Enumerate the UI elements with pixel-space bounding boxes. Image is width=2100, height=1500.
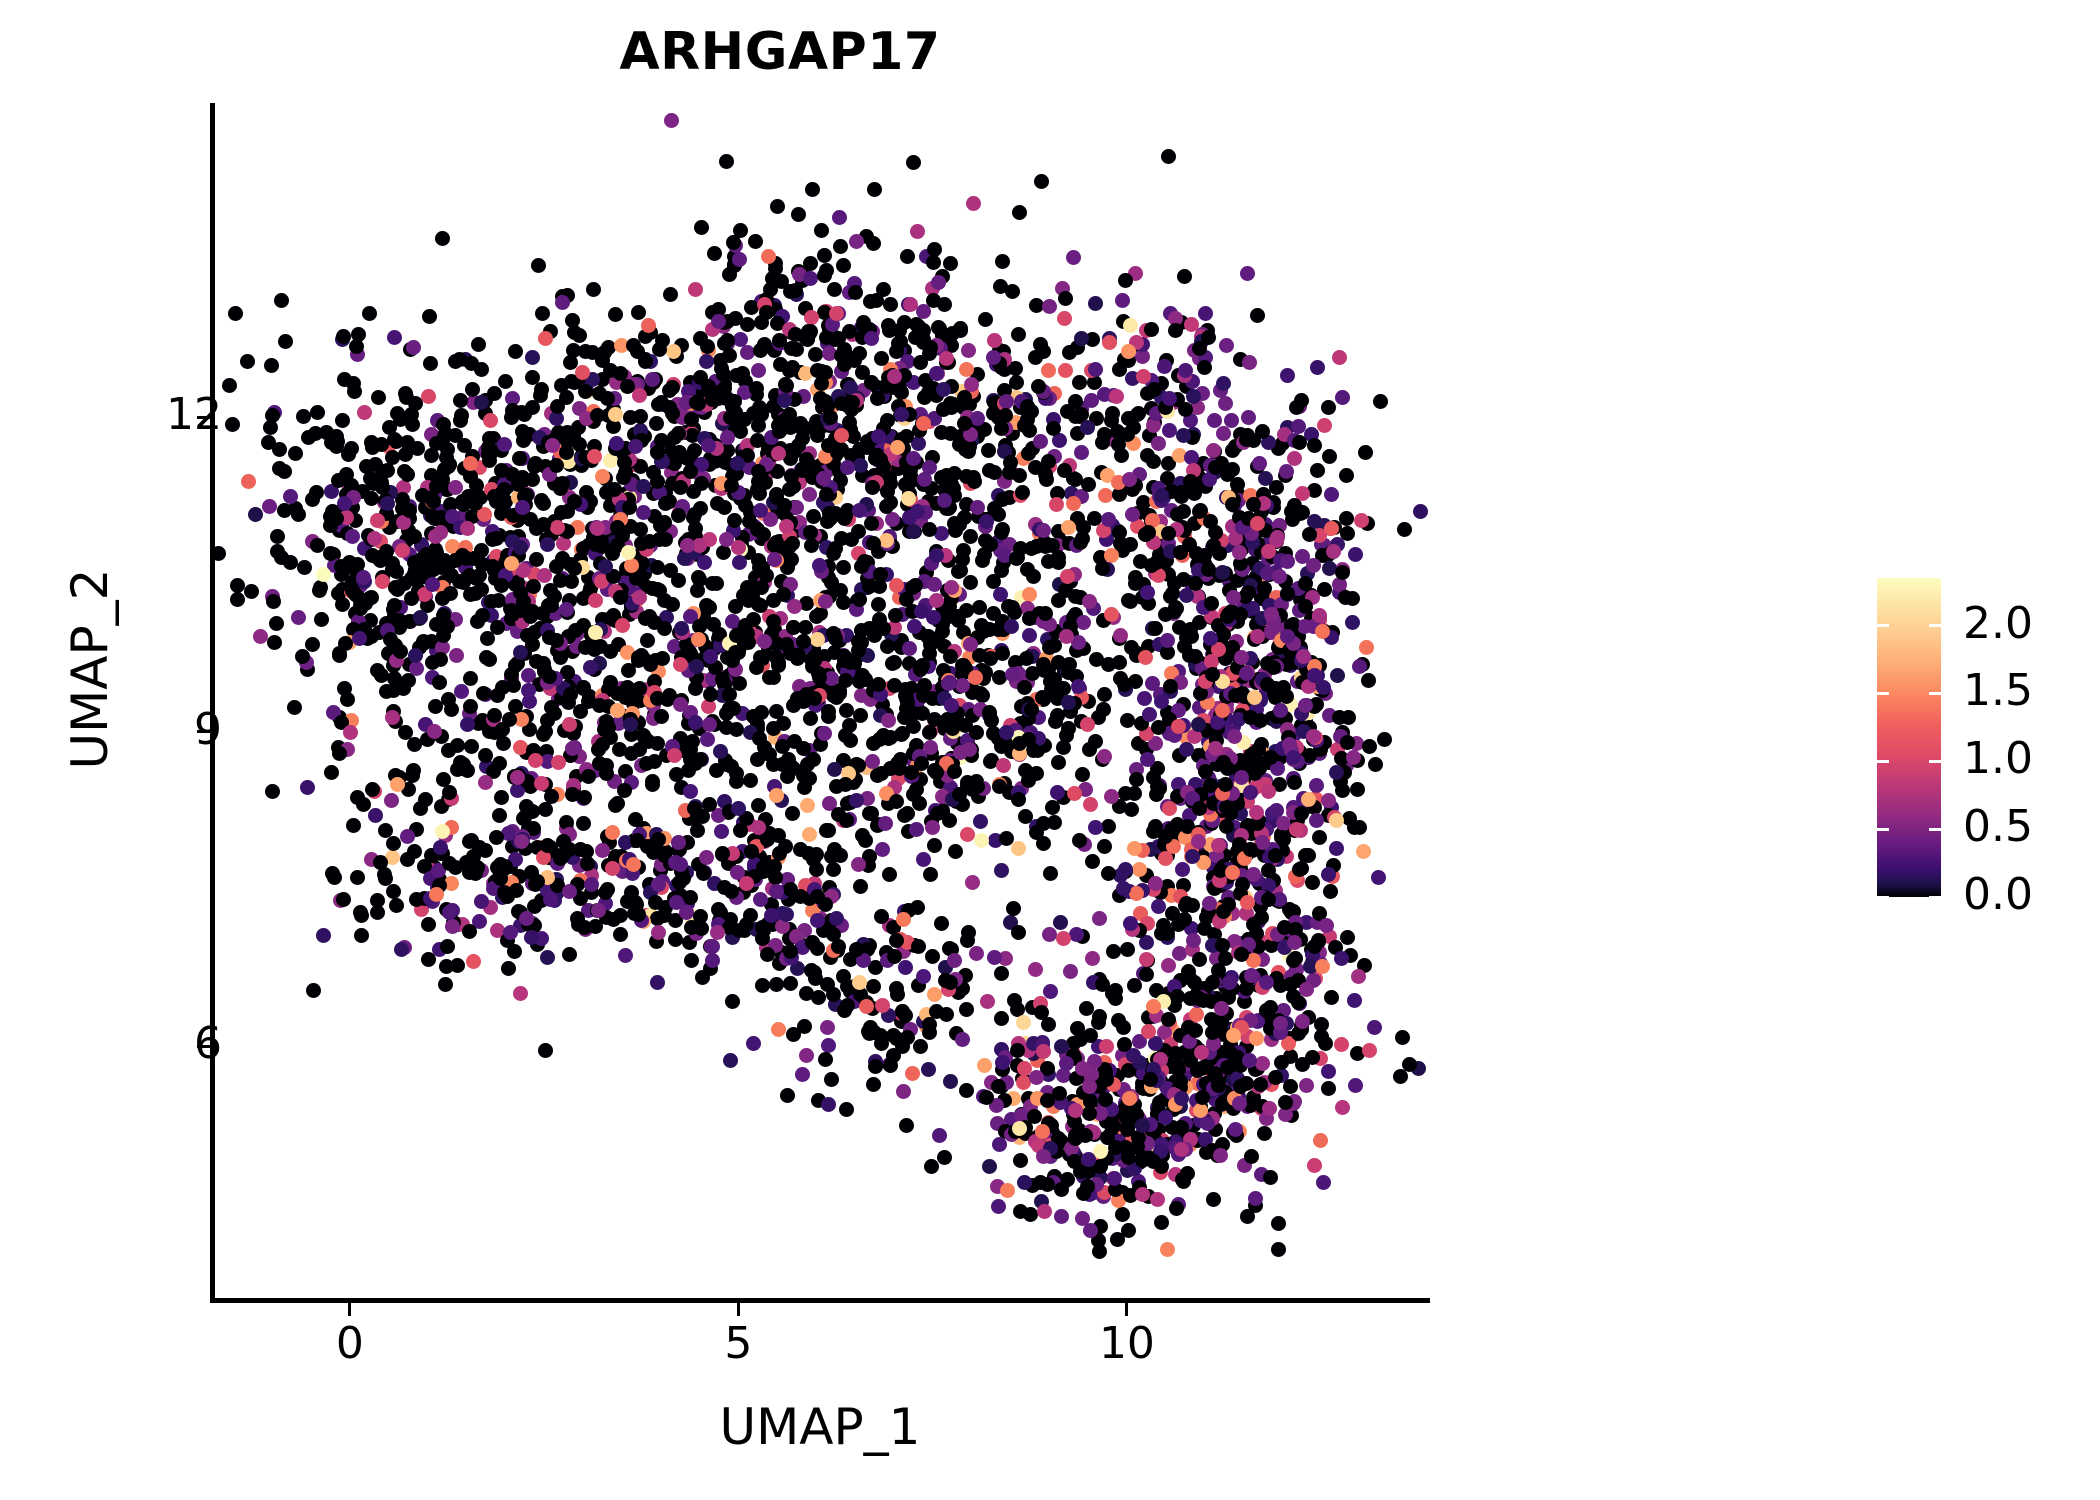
scatter-point — [1255, 756, 1270, 771]
scatter-point — [301, 430, 316, 445]
scatter-point — [1264, 607, 1279, 622]
scatter-point — [1253, 713, 1268, 728]
scatter-point — [645, 774, 660, 789]
scatter-point — [1036, 1044, 1051, 1059]
scatter-point — [826, 862, 841, 877]
scatter-point — [581, 769, 596, 784]
scatter-point — [1140, 752, 1155, 767]
scatter-point — [953, 323, 968, 338]
scatter-point — [305, 637, 320, 652]
scatter-point — [1294, 806, 1309, 821]
scatter-point — [963, 529, 978, 544]
scatter-point — [1085, 854, 1100, 869]
scatter-point — [658, 532, 673, 547]
scatter-point — [780, 1088, 795, 1103]
scatter-point — [784, 552, 799, 567]
scatter-point — [951, 613, 966, 628]
scatter-point — [767, 538, 782, 553]
scatter-point — [1033, 434, 1048, 449]
scatter-point — [492, 863, 507, 878]
scatter-point — [849, 793, 864, 808]
scatter-point — [1105, 406, 1120, 421]
scatter-point — [797, 780, 812, 795]
scatter-point — [809, 609, 824, 624]
scatter-point — [895, 1004, 910, 1019]
scatter-point — [922, 522, 937, 537]
scatter-point — [1299, 1078, 1314, 1093]
scatter-point — [1335, 1100, 1350, 1115]
scatter-point — [1075, 767, 1090, 782]
scatter-point — [1170, 507, 1185, 522]
scatter-point — [364, 491, 379, 506]
scatter-point — [547, 706, 562, 721]
scatter-point — [896, 912, 911, 927]
scatter-point — [838, 728, 853, 743]
scatter-point — [729, 722, 744, 737]
scatter-point — [1046, 421, 1061, 436]
scatter-point — [540, 950, 555, 965]
scatter-point — [1043, 984, 1058, 999]
scatter-point — [1054, 1039, 1069, 1054]
scatter-point — [787, 444, 802, 459]
scatter-point — [1097, 687, 1112, 702]
scatter-point — [876, 621, 891, 636]
scatter-point — [350, 870, 365, 885]
scatter-point — [406, 340, 421, 355]
scatter-point — [647, 754, 662, 769]
scatter-point — [957, 416, 972, 431]
scatter-point — [483, 413, 498, 428]
scatter-point — [1101, 819, 1116, 834]
scatter-point — [671, 835, 686, 850]
scatter-point — [836, 560, 851, 575]
scatter-point — [400, 829, 415, 844]
scatter-point — [435, 231, 450, 246]
scatter-point — [922, 725, 937, 740]
scatter-point — [439, 450, 454, 465]
scatter-point — [544, 598, 559, 613]
scatter-point — [607, 482, 622, 497]
scatter-point — [927, 577, 942, 592]
scatter-point — [1314, 1029, 1329, 1044]
scatter-point — [769, 977, 784, 992]
scatter-point — [1219, 800, 1234, 815]
scatter-point — [455, 548, 470, 563]
scatter-point — [839, 703, 854, 718]
scatter-point — [591, 742, 606, 757]
scatter-point — [1102, 335, 1117, 350]
scatter-point — [1249, 1031, 1264, 1046]
scatter-point — [421, 917, 436, 932]
scatter-point — [555, 295, 570, 310]
scatter-point — [1074, 331, 1089, 346]
scatter-point — [244, 584, 259, 599]
scatter-point — [429, 436, 444, 451]
scatter-point — [605, 825, 620, 840]
scatter-point — [900, 806, 915, 821]
scatter-point — [586, 282, 601, 297]
scatter-point — [751, 798, 766, 813]
scatter-point — [1243, 842, 1258, 857]
scatter-point — [335, 597, 350, 612]
scatter-point — [288, 446, 303, 461]
scatter-point — [559, 602, 574, 617]
scatter-point — [799, 1048, 814, 1063]
scatter-point — [386, 836, 401, 851]
scatter-point — [873, 567, 888, 582]
scatter-point — [824, 1072, 839, 1087]
scatter-point — [1115, 1207, 1130, 1222]
scatter-point — [1232, 1096, 1247, 1111]
scatter-point — [840, 460, 855, 475]
scatter-point — [1373, 394, 1388, 409]
scatter-point — [862, 579, 877, 594]
scatter-point — [265, 784, 280, 799]
scatter-point — [1161, 1012, 1176, 1027]
scatter-point — [474, 362, 489, 377]
scatter-point — [1332, 350, 1347, 365]
scatter-point — [567, 561, 582, 576]
scatter-point — [1154, 694, 1169, 709]
scatter-point — [1160, 1242, 1175, 1257]
scatter-point — [476, 686, 491, 701]
scatter-point — [1312, 830, 1327, 845]
scatter-point — [1393, 1069, 1408, 1084]
scatter-point — [535, 306, 550, 321]
scatter-point — [782, 363, 797, 378]
scatter-point — [1395, 1030, 1410, 1045]
scatter-point — [474, 894, 489, 909]
scatter-point — [991, 1079, 1006, 1094]
scatter-point — [864, 806, 879, 821]
scatter-point — [866, 536, 881, 551]
scatter-point — [1225, 865, 1240, 880]
scatter-point — [576, 816, 591, 831]
scatter-point — [462, 568, 477, 583]
scatter-point — [484, 594, 499, 609]
scatter-point — [886, 1048, 901, 1063]
scatter-point — [283, 489, 298, 504]
scatter-point — [475, 608, 490, 623]
scatter-point — [1125, 507, 1140, 522]
scatter-point — [1035, 690, 1050, 705]
scatter-point — [987, 465, 1002, 480]
scatter-point — [1082, 594, 1097, 609]
scatter-point — [967, 474, 982, 489]
scatter-point — [982, 1159, 997, 1174]
scatter-point — [1239, 981, 1254, 996]
scatter-point — [512, 451, 527, 466]
scatter-point — [543, 583, 558, 598]
scatter-point — [716, 545, 731, 560]
scatter-point — [1116, 1020, 1131, 1035]
scatter-point — [719, 391, 734, 406]
scatter-point — [1273, 1016, 1288, 1031]
scatter-point — [905, 1066, 920, 1081]
scatter-point — [618, 948, 633, 963]
scatter-point — [544, 789, 559, 804]
scatter-point — [475, 557, 490, 572]
scatter-point — [770, 199, 785, 214]
scatter-point — [241, 474, 256, 489]
scatter-point — [341, 447, 356, 462]
scatter-point — [1270, 530, 1285, 545]
scatter-point — [913, 1039, 928, 1054]
scatter-point — [683, 784, 698, 799]
scatter-point — [1262, 1101, 1277, 1116]
scatter-point — [1071, 679, 1086, 694]
scatter-point — [903, 297, 918, 312]
scatter-point — [795, 1067, 810, 1082]
scatter-point — [1307, 1158, 1322, 1173]
scatter-point — [1121, 411, 1136, 426]
scatter-point — [648, 895, 663, 910]
scatter-point — [1088, 362, 1103, 377]
scatter-point — [599, 758, 614, 773]
scatter-point — [663, 287, 678, 302]
scatter-point — [1280, 586, 1295, 601]
scatter-point — [570, 911, 585, 926]
scatter-point — [1329, 841, 1344, 856]
scatter-point — [1083, 1223, 1098, 1238]
scatter-point — [1251, 742, 1266, 757]
scatter-point — [1157, 359, 1172, 374]
scatter-point — [702, 717, 717, 732]
scatter-point — [914, 604, 929, 619]
scatter-point — [1095, 561, 1110, 576]
scatter-point — [889, 933, 904, 948]
scatter-point — [875, 842, 890, 857]
scatter-point — [1175, 1172, 1190, 1187]
scatter-point — [1144, 322, 1159, 337]
scatter-point — [946, 481, 961, 496]
scatter-point — [1070, 1021, 1085, 1036]
scatter-point — [402, 503, 417, 518]
scatter-point — [961, 444, 976, 459]
scatter-point — [538, 1043, 553, 1058]
scatter-point — [605, 861, 620, 876]
scatter-point — [871, 429, 886, 444]
scatter-point — [1098, 488, 1113, 503]
scatter-point — [362, 306, 377, 321]
scatter-point — [1216, 426, 1231, 441]
scatter-point — [705, 953, 720, 968]
scatter-point — [1179, 742, 1194, 757]
scatter-point — [483, 446, 498, 461]
scatter-point — [1080, 1179, 1095, 1194]
scatter-point — [948, 844, 963, 859]
scatter-point — [388, 580, 403, 595]
scatter-point — [782, 539, 797, 554]
scatter-point — [827, 762, 842, 777]
scatter-point — [1173, 1074, 1188, 1089]
scatter-point — [1168, 323, 1183, 338]
scatter-point — [876, 728, 891, 743]
scatter-point — [1215, 565, 1230, 580]
scatter-point — [356, 570, 371, 585]
scatter-point — [684, 920, 699, 935]
scatter-point — [1259, 975, 1274, 990]
scatter-point — [1140, 585, 1155, 600]
scatter-point — [880, 639, 895, 654]
scatter-point — [1246, 497, 1261, 512]
scatter-point — [1015, 485, 1030, 500]
scatter-point — [1150, 1192, 1165, 1207]
scatter-point — [448, 428, 463, 443]
scatter-point — [1029, 1070, 1044, 1085]
scatter-point — [749, 381, 764, 396]
scatter-point — [1042, 640, 1057, 655]
scatter-point — [673, 480, 688, 495]
scatter-point — [1292, 435, 1307, 450]
scatter-point — [636, 479, 651, 494]
scatter-point — [1067, 786, 1082, 801]
scatter-point — [354, 908, 369, 923]
scatter-point — [1034, 1005, 1049, 1020]
scatter-point — [986, 350, 1001, 365]
scatter-point — [936, 402, 951, 417]
scatter-point — [1268, 1070, 1283, 1085]
scatter-point — [494, 578, 509, 593]
scatter-point — [732, 252, 747, 267]
scatter-point — [1054, 1182, 1069, 1197]
scatter-point — [842, 324, 857, 339]
scatter-point — [876, 459, 891, 474]
scatter-point — [603, 644, 618, 659]
scatter-point — [1356, 844, 1371, 859]
scatter-point — [961, 343, 976, 358]
scatter-point — [1082, 742, 1097, 757]
scatter-point — [771, 446, 786, 461]
scatter-point — [802, 487, 817, 502]
scatter-point — [650, 736, 665, 751]
scatter-point — [1174, 489, 1189, 504]
scatter-point — [808, 347, 823, 362]
scatter-point — [463, 699, 478, 714]
scatter-point — [1261, 784, 1276, 799]
scatter-point — [623, 717, 638, 732]
scatter-point — [1154, 1215, 1169, 1230]
scatter-point — [1129, 886, 1144, 901]
scatter-point — [1192, 341, 1207, 356]
scatter-point — [525, 400, 540, 415]
scatter-point — [1206, 1192, 1221, 1207]
scatter-point — [1219, 338, 1234, 353]
scatter-point — [899, 691, 914, 706]
scatter-point — [1106, 944, 1121, 959]
scatter-point — [819, 487, 834, 502]
scatter-point — [1246, 867, 1261, 882]
scatter-point — [438, 977, 453, 992]
scatter-point — [513, 603, 528, 618]
scatter-point — [1206, 538, 1221, 553]
scatter-point — [783, 284, 798, 299]
scatter-point — [973, 686, 988, 701]
scatter-point — [538, 724, 553, 739]
scatter-point — [1037, 1204, 1052, 1219]
scatter-point — [1116, 881, 1131, 896]
scatter-point — [444, 702, 459, 717]
scatter-point — [987, 333, 1002, 348]
scatter-point — [565, 787, 580, 802]
scatter-point — [370, 663, 385, 678]
scatter-point — [371, 390, 386, 405]
scatter-point — [1334, 1037, 1349, 1052]
scatter-point — [651, 925, 666, 940]
scatter-point — [1250, 308, 1265, 323]
scatter-point — [699, 354, 714, 369]
scatter-point — [1028, 350, 1043, 365]
scatter-point — [787, 599, 802, 614]
scatter-point — [917, 390, 932, 405]
scatter-point — [720, 430, 735, 445]
scatter-point — [576, 680, 591, 695]
scatter-point — [1203, 631, 1218, 646]
scatter-point — [1138, 650, 1153, 665]
scatter-point — [994, 863, 1009, 878]
scatter-point — [961, 925, 976, 940]
scatter-point — [404, 407, 419, 422]
scatter-point — [1010, 550, 1025, 565]
scatter-point — [528, 456, 543, 471]
scatter-point — [899, 592, 914, 607]
scatter-point — [621, 545, 636, 560]
scatter-point — [1239, 432, 1254, 447]
scatter-point — [1135, 349, 1150, 364]
scatter-point — [1339, 468, 1354, 483]
scatter-point — [1101, 657, 1116, 672]
scatter-point — [1280, 554, 1295, 569]
scatter-point — [869, 293, 884, 308]
scatter-point — [1104, 607, 1119, 622]
scatter-point — [1371, 870, 1386, 885]
scatter-point — [456, 497, 471, 512]
scatter-point — [436, 628, 451, 643]
scatter-point — [1045, 800, 1060, 815]
scatter-point — [769, 788, 784, 803]
scatter-point — [870, 768, 885, 783]
scatter-point — [1234, 947, 1249, 962]
scatter-point — [1197, 921, 1212, 936]
scatter-point — [694, 220, 709, 235]
scatter-point — [524, 930, 539, 945]
scatter-point — [668, 932, 683, 947]
scatter-point — [1184, 629, 1199, 644]
scatter-point — [508, 344, 523, 359]
scatter-point — [979, 1090, 994, 1105]
scatter-point — [820, 1020, 835, 1035]
scatter-point — [463, 671, 478, 686]
scatter-point — [783, 944, 798, 959]
scatter-point — [1154, 926, 1169, 941]
scatter-point — [986, 606, 1001, 621]
scatter-point — [981, 443, 996, 458]
scatter-point — [478, 843, 493, 858]
scatter-point — [287, 700, 302, 715]
scatter-point — [657, 515, 672, 530]
scatter-point — [684, 953, 699, 968]
scatter-point — [1061, 520, 1076, 535]
scatter-point — [827, 282, 842, 297]
scatter-point — [295, 649, 310, 664]
scatter-point — [1240, 266, 1255, 281]
scatter-point — [497, 885, 512, 900]
scatter-point — [798, 620, 813, 635]
scatter-point — [1028, 460, 1043, 475]
scatter-point — [936, 382, 951, 397]
scatter-point — [466, 954, 481, 969]
scatter-point — [880, 484, 895, 499]
